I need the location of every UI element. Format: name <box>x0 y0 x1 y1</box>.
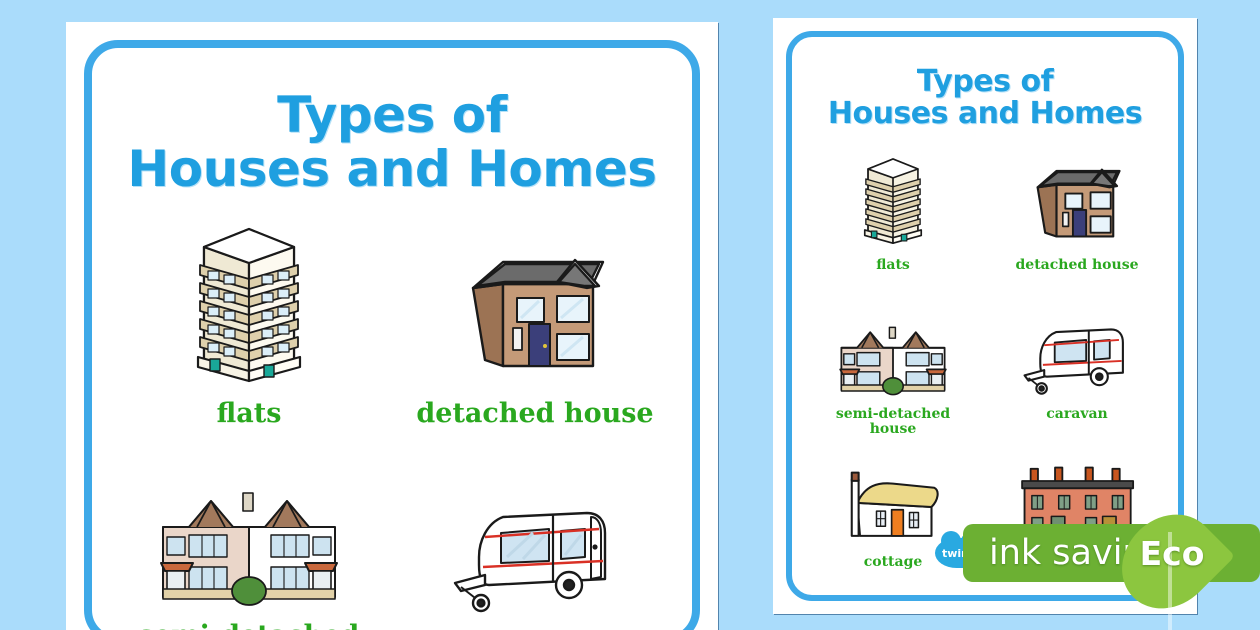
cottage-icon <box>838 443 948 547</box>
list-item: detached house <box>985 146 1169 295</box>
semi-detached-house-icon <box>149 449 349 609</box>
list-item-label: semi-detached house <box>836 407 950 438</box>
list-item-label: flats <box>876 258 910 274</box>
flats-tower-block-icon <box>857 146 929 250</box>
page-title-line-1: Types of <box>66 88 718 142</box>
page-title-line-1: Types of <box>773 66 1197 98</box>
page-title: Types of Houses and Homes <box>773 66 1197 131</box>
list-item-label: flats <box>217 399 282 429</box>
page-title-line-2: Houses and Homes <box>66 142 718 196</box>
house-type-grid: flats <box>106 217 678 630</box>
poster-large: Types of Houses and Homes <box>66 22 718 630</box>
page-title-line-2: Houses and Homes <box>773 98 1197 130</box>
list-item: caravan <box>985 295 1169 444</box>
detached-house-icon <box>1025 146 1129 250</box>
list-item-label: detached house <box>1016 258 1139 274</box>
caravan-icon <box>445 449 625 619</box>
detached-house-icon <box>453 217 618 387</box>
list-item: flats <box>801 146 985 295</box>
list-item-label: cottage <box>864 555 923 571</box>
list-item-label: semi-detached house <box>139 621 360 630</box>
flats-tower-block-icon <box>184 217 314 387</box>
caravan-icon <box>1018 295 1136 399</box>
list-item: cottage <box>801 443 985 592</box>
list-item: semi-detached house <box>106 449 392 630</box>
list-item-label: detached house <box>416 399 653 429</box>
list-item: detached house <box>392 217 678 449</box>
page-title: Types of Houses and Homes <box>66 88 718 196</box>
list-item: flats <box>106 217 392 449</box>
ink-saving-eco-badge: twinkl ink saving Eco <box>963 524 1260 582</box>
eco-badge-leaf-label: Eco <box>1137 534 1207 573</box>
list-item-label: caravan <box>1046 407 1107 423</box>
poster-canvas: Types of Houses and Homes <box>0 0 1260 630</box>
semi-detached-house-icon <box>833 295 953 399</box>
list-item: caravan <box>392 449 678 630</box>
list-item: semi-detached house <box>801 295 985 444</box>
